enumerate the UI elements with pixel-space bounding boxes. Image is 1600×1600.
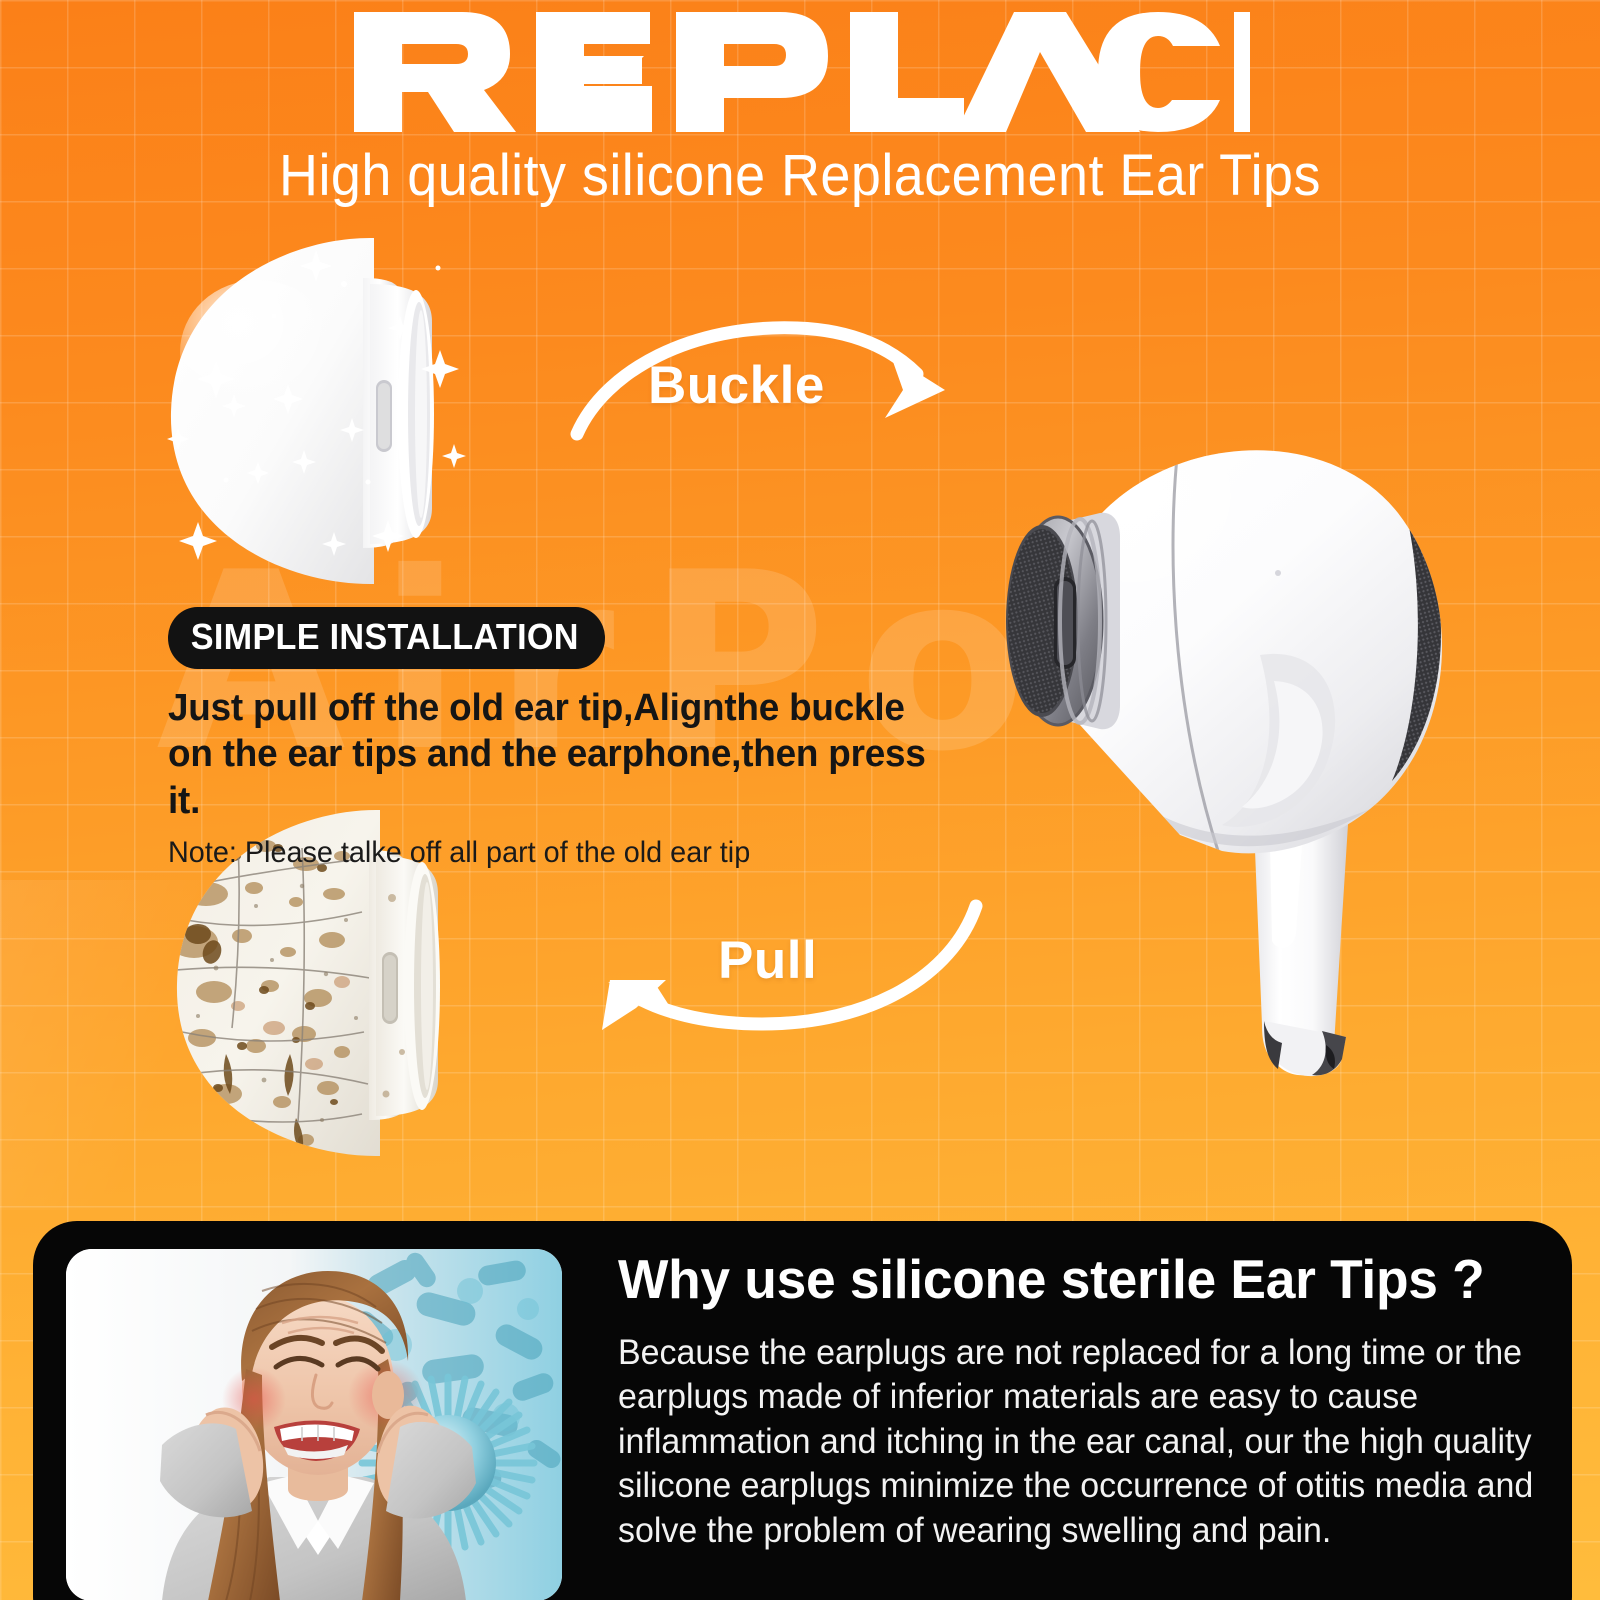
- buckle-label: Buckle: [648, 355, 825, 416]
- panel-body: Because the earplugs are not replaced fo…: [618, 1331, 1496, 1553]
- panel-heading: Why use silicone sterile Ear Tips ?: [618, 1247, 1496, 1311]
- panel-body-line: inflammation and itching in the ear cana…: [618, 1420, 1496, 1464]
- pull-label: Pull: [718, 930, 817, 991]
- installation-line-2: on the ear tips and the earphone,then pr…: [168, 731, 944, 824]
- panel-body-line: Because the earplugs are not replaced fo…: [618, 1331, 1496, 1375]
- panel-body-line: solve the problem of wearing swelling an…: [618, 1509, 1496, 1553]
- page-subtitle: High quality silicone Replacement Ear Ti…: [56, 142, 1544, 209]
- header: High quality silicone Replacement Ear Ti…: [0, 8, 1600, 209]
- panel-body-line: earplugs made of inferior materials are …: [618, 1375, 1496, 1419]
- page-title: [0, 8, 1600, 136]
- clean-ear-tip-image: [138, 232, 468, 592]
- installation-note: Note: Please talke off all part of the o…: [168, 836, 936, 870]
- simple-installation-block: SIMPLE INSTALLATION Just pull off the ol…: [168, 607, 968, 870]
- panel-body-line: silicone earplugs minimize the occurrenc…: [618, 1464, 1496, 1508]
- installation-instructions: Just pull off the old ear tip,Alignthe b…: [168, 685, 944, 824]
- why-silicone-panel: Why use silicone sterile Ear Tips ? Beca…: [33, 1221, 1572, 1600]
- earbud-image: [930, 405, 1490, 1085]
- pain-bacteria-photo: [66, 1249, 562, 1600]
- why-silicone-text: Why use silicone sterile Ear Tips ? Beca…: [618, 1247, 1523, 1553]
- installation-line-1: Just pull off the old ear tip,Alignthe b…: [168, 685, 944, 731]
- status-badge: SIMPLE INSTALLATION: [168, 607, 605, 669]
